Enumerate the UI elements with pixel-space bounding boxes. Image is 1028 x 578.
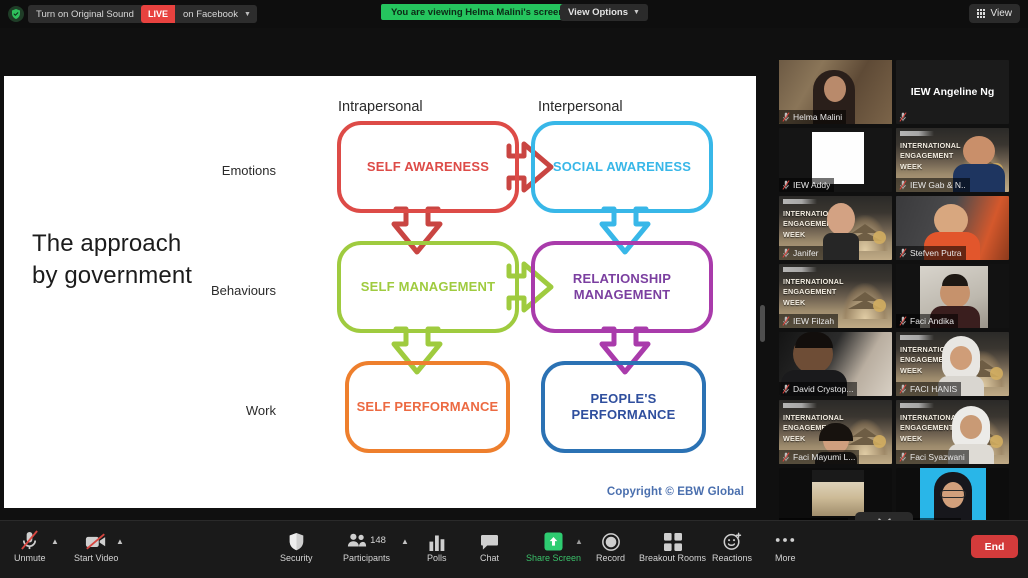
name-badge: Stefven Putra [896,246,966,260]
share-options-chevron-icon[interactable]: ▲ [575,537,583,546]
toolbar-record-button[interactable]: Record [596,529,625,563]
microphone-off-icon [899,180,907,190]
unmute-options-chevron-icon[interactable]: ▲ [51,537,59,546]
microphone-off-icon [20,529,39,551]
grid-icon [977,9,986,18]
filmstrip-row: Helma Malini IEW Angeline Ng [779,60,1009,124]
toolbar-label: Breakout Rooms [639,554,706,563]
toolbar-start-video-button[interactable]: Start Video [74,529,118,563]
chevron-down-icon: ▼ [633,9,640,16]
toolbar-unmute-button[interactable]: Unmute [14,529,46,563]
participant-name: IEW Addy [793,180,830,190]
shared-screen-scrollbar[interactable] [760,305,765,342]
toolbar-chat-button[interactable]: Chat [480,529,499,563]
participant-tile-faci-andika[interactable]: Faci Andika [896,264,1009,328]
toolbar-label: Start Video [74,554,118,563]
participant-filmstrip[interactable]: Helma Malini IEW Angeline Ng [779,60,1009,520]
view-options-button[interactable]: View Options ▼ [560,4,648,21]
diagram-box-self-management: SELF MANAGEMENT [337,241,519,333]
filmstrip-row: IEW Addy INTERNATIONALENGAGEMENTWEEK [779,128,1009,192]
ellipsis-icon [775,529,795,551]
encryption-shield-check-icon[interactable] [8,6,24,22]
meeting-toolbar: Unmute ▲ Start Video ▲ Security 148 Part… [0,520,1028,578]
view-layout-button[interactable]: View [969,4,1021,23]
view-options-label: View Options [568,7,628,18]
name-badge: Helma Malini [779,110,846,124]
diagram-box-social-awareness: SOCIAL AWARENESS [531,121,713,213]
toolbar-more-button[interactable]: More [775,529,796,563]
meeting-top-bar: Turn on Original Sound ▼ LIVE on Faceboo… [0,0,1028,28]
filmstrip-row: INTERNATIONALENGAGEMENTWEEK Faci Mayumi … [779,400,1009,464]
toolbar-label: Chat [480,554,499,563]
participant-name: Faci Syazwani [910,452,965,462]
name-badge: Faci Andika [896,314,958,328]
microphone-off-icon [782,384,790,394]
original-sound-control[interactable]: Turn on Original Sound ▼ [28,5,159,23]
toolbar-polls-button[interactable]: Polls [427,529,447,563]
participant-tile-iew-addy[interactable]: IEW Addy [779,128,892,192]
shared-slide: The approach by government Intrapersonal… [4,76,756,508]
microphone-off-icon [899,248,907,258]
smiley-plus-icon [723,529,742,551]
zoom-meeting-window: Turn on Original Sound ▼ LIVE on Faceboo… [0,0,1028,578]
grid-squares-icon [664,529,682,551]
chevron-down-icon[interactable]: ▼ [244,11,251,18]
toolbar-reactions-button[interactable]: Reactions [712,529,752,563]
original-sound-label: Turn on Original Sound [28,9,142,20]
live-platform-label: on Facebook [183,9,238,20]
name-badge: IEW Addy [779,178,834,192]
toolbar-label: Share Screen [526,554,581,563]
microphone-off-icon [782,112,790,122]
participant-name: IEW Gab & N.. [910,180,966,190]
live-badge: LIVE [141,5,175,23]
shield-icon [288,529,305,551]
participant-name: Janifer [793,248,819,258]
participant-tile-iew-gab-n[interactable]: INTERNATIONALENGAGEMENTWEEK IEW Gab & N.… [896,128,1009,192]
participant-name: Faci Andika [910,316,954,326]
name-badge: IEW Gab & N.. [896,178,970,192]
participant-tile-faci-syazwani[interactable]: INTERNATIONALENGAGEMENTWEEK Faci Syazwan… [896,400,1009,464]
microphone-off-icon [899,112,907,122]
microphone-off-icon [899,384,907,394]
end-meeting-button[interactable]: End [971,535,1018,558]
toolbar-label: Reactions [712,554,752,563]
video-off-icon [85,529,107,551]
toolbar-label: More [775,554,796,563]
participant-tile-stefven-putra[interactable]: Stefven Putra [896,196,1009,260]
toolbar-share-screen-button[interactable]: Share Screen [526,529,581,563]
participant-tile-helma-malini[interactable]: Helma Malini [779,60,892,124]
participant-tile-janifer[interactable]: INTERNATIONALENGAGEMENTWEEK Janifer [779,196,892,260]
diagram-box-self-performance: SELF PERFORMANCE [345,361,510,453]
shared-screen-stage[interactable]: The approach by government Intrapersonal… [0,28,775,518]
people-icon: 148 [347,529,386,551]
participant-count-badge: 148 [370,535,386,546]
viewing-screen-banner: You are viewing Helma Malini's screen [381,4,574,20]
name-badge: Faci Mayumi L... [779,450,859,464]
toolbar-security-button[interactable]: Security [280,529,313,563]
toolbar-label: Polls [427,554,447,563]
participant-tile-faci-mayumi[interactable]: INTERNATIONALENGAGEMENTWEEK Faci Mayumi … [779,400,892,464]
diagram-box-relationship-management: RELATIONSHIP MANAGEMENT [531,241,713,333]
filmstrip-row: David Crystop... INTERNATIONALENGAGEMENT… [779,332,1009,396]
share-screen-icon [544,529,563,551]
toolbar-participants-button[interactable]: 148 Participants [343,529,390,563]
live-platform-control[interactable]: on Facebook ▼ [175,5,257,23]
toolbar-label: Record [596,554,625,563]
participant-name: David Crystop... [793,384,853,394]
record-circle-icon [602,529,620,551]
diagram-box-peoples-performance: PEOPLE'S PERFORMANCE [541,361,706,453]
participant-name: Helma Malini [793,112,842,122]
toolbar-label: Security [280,554,313,563]
chat-bubble-icon [480,529,499,551]
participant-name: Stefven Putra [910,248,962,258]
filmstrip-row: INTERNATIONALENGAGEMENTWEEK IEW Filzah [779,264,1009,328]
microphone-off-icon [899,316,907,326]
name-badge: Janifer [779,246,823,260]
participants-options-chevron-icon[interactable]: ▲ [401,537,409,546]
participant-tile-iew-filzah[interactable]: INTERNATIONALENGAGEMENTWEEK IEW Filzah [779,264,892,328]
name-badge: FACI HANIS [896,382,961,396]
name-badge [896,110,911,124]
participant-name: FACI HANIS [910,384,957,394]
participant-name: IEW Angeline Ng [896,60,1009,124]
name-badge: David Crystop... [779,382,857,396]
view-button-label: View [991,8,1013,19]
participant-tile-david-crystop[interactable]: David Crystop... [779,332,892,396]
name-badge: Faci Syazwani [896,450,969,464]
toolbar-label: Participants [343,554,390,563]
toolbar-label: Unmute [14,554,46,563]
toolbar-breakout-rooms-button[interactable]: Breakout Rooms [639,529,706,563]
bar-chart-icon [429,529,445,551]
participant-tile-faci-hanis[interactable]: INTERNATIONALENGAGEMENTWEEK FACI HANIS [896,332,1009,396]
filmstrip-row: INTERNATIONALENGAGEMENTWEEK Janifer [779,196,1009,260]
microphone-off-icon [899,452,907,462]
name-badge: IEW Filzah [779,314,838,328]
microphone-off-icon [782,248,790,258]
live-stream-control[interactable]: LIVE on Facebook ▼ [141,5,257,23]
microphone-off-icon [782,452,790,462]
diagram-box-self-awareness: SELF AWARENESS [337,121,519,213]
slide-copyright: Copyright © EBW Global [607,486,744,498]
participant-name: IEW Filzah [793,316,834,326]
microphone-off-icon [782,316,790,326]
participant-name: Faci Mayumi L... [793,452,855,462]
video-options-chevron-icon[interactable]: ▲ [116,537,124,546]
participant-tile-iew-angeline-ng[interactable]: IEW Angeline Ng [896,60,1009,124]
microphone-off-icon [782,180,790,190]
